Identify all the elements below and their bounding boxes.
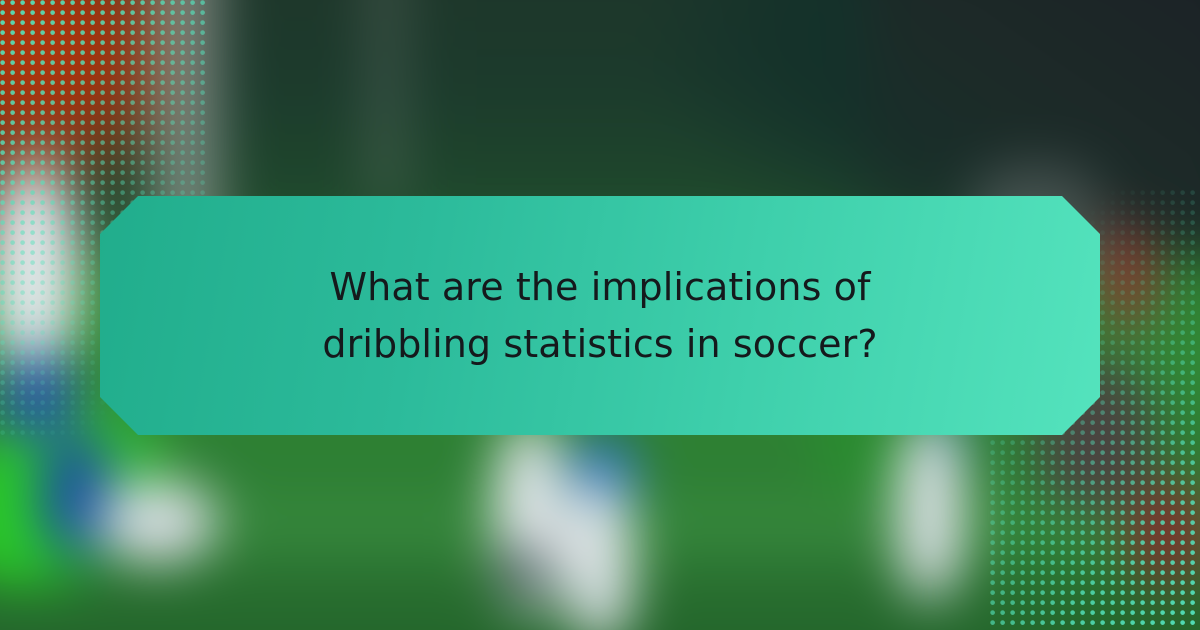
social-card-image: What are the implications of dribbling s…	[0, 0, 1200, 630]
player-shape-goalkeeper-shorts	[39, 435, 112, 555]
player-shape-center-legs	[567, 480, 633, 630]
headline-card: What are the implications of dribbling s…	[100, 196, 1100, 435]
player-shape-left-jersey	[0, 165, 79, 375]
player-shape-left-legs	[98, 480, 217, 563]
player-shape-right-legs	[897, 420, 963, 600]
background-post-secondary	[362, 0, 408, 203]
background-blur-shape	[1128, 480, 1200, 585]
background-blur-shape	[1102, 225, 1155, 330]
card-title: What are the implications of dribbling s…	[180, 259, 1020, 371]
soccer-ball-shadow	[501, 548, 546, 597]
